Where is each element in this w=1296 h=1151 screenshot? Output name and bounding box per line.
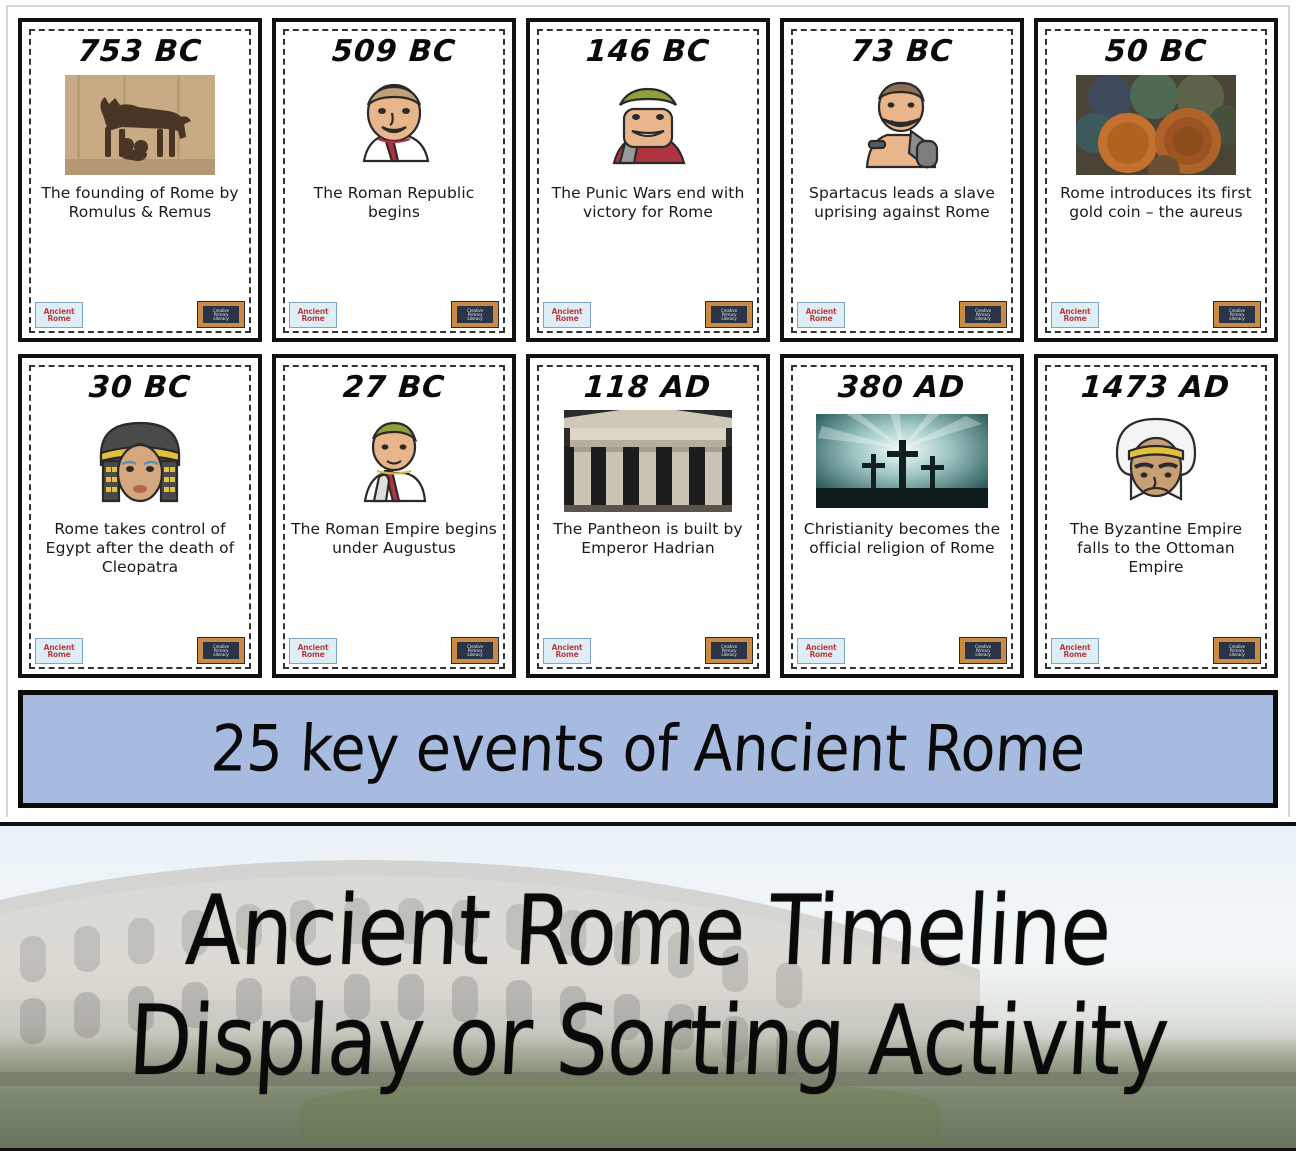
card-date: 380 AD: [837, 373, 966, 403]
card-date: 27 BC: [342, 373, 446, 403]
ancient-rome-badge: Ancient Rome: [543, 302, 591, 328]
page-frame-right: [1288, 5, 1290, 817]
card-inner-border: 380 AD: [791, 365, 1013, 669]
chalkboard-logo: Creative Primary Literacy: [705, 637, 753, 664]
chalkboard-logo: Creative Primary Literacy: [451, 301, 499, 328]
ancient-rome-badge: Ancient Rome: [289, 302, 337, 328]
timeline-card[interactable]: 27 BC: [272, 354, 516, 678]
logo-line-3: Literacy: [213, 653, 228, 657]
title-hero: Ancient Rome Timeline Display or Sorting…: [0, 822, 1296, 1151]
timeline-card-grid: 753 BC: [18, 18, 1278, 678]
card-footer: Ancient Rome Creative Primary Literacy: [797, 638, 1007, 664]
card-inner-border: 146 BC: [537, 29, 759, 333]
three-crosses-photo: [797, 407, 1007, 515]
chalkboard-logo: Creative Primary Literacy: [197, 637, 245, 664]
ancient-rome-badge: Ancient Rome: [797, 638, 845, 664]
badge-line-2: Rome: [47, 651, 70, 659]
card-footer: Ancient Rome Creative Primary Literacy: [797, 302, 1007, 328]
chalkboard-logo: Creative Primary Literacy: [451, 637, 499, 664]
card-date: 509 BC: [331, 37, 457, 67]
ancient-rome-badge: Ancient Rome: [35, 302, 83, 328]
card-footer: Ancient Rome Creative Primary Literacy: [289, 638, 499, 664]
card-footer: Ancient Rome Creative Primary Literacy: [289, 302, 499, 328]
page-frame-left: [6, 5, 8, 817]
card-inner-border: 753 BC: [29, 29, 251, 333]
roman-coins-photo: [1051, 71, 1261, 179]
badge-line-2: Rome: [301, 651, 324, 659]
timeline-card[interactable]: 30 BC: [18, 354, 262, 678]
roman-senator-illustration: [289, 71, 499, 179]
card-inner-border: 30 BC: [29, 365, 251, 669]
logo-line-3: Literacy: [975, 317, 990, 321]
card-inner-border: 73 BC: [791, 29, 1013, 333]
logo-line-3: Literacy: [1229, 653, 1244, 657]
card-date: 146 BC: [585, 37, 711, 67]
card-date: 118 AD: [583, 373, 712, 403]
ancient-rome-badge: Ancient Rome: [797, 302, 845, 328]
worksheet-page: 753 BC: [0, 0, 1296, 1151]
badge-line-2: Rome: [1063, 315, 1086, 323]
timeline-card[interactable]: 509 BC: [272, 18, 516, 342]
ancient-rome-badge: Ancient Rome: [543, 638, 591, 664]
card-inner-border: 118 AD: [537, 365, 759, 669]
chalkboard-logo: Creative Primary Literacy: [1213, 637, 1261, 664]
timeline-card[interactable]: 753 BC: [18, 18, 262, 342]
badge-line-2: Rome: [1063, 651, 1086, 659]
timeline-card[interactable]: 50 BC: [1034, 18, 1278, 342]
badge-line-2: Rome: [555, 315, 578, 323]
chalkboard-logo: Creative Primary Literacy: [1213, 301, 1261, 328]
logo-line-3: Literacy: [721, 653, 736, 657]
page-frame-top: [6, 5, 1290, 7]
laurel-emperor-illustration: [543, 71, 753, 179]
chalkboard-logo: Creative Primary Literacy: [705, 301, 753, 328]
badge-line-2: Rome: [809, 651, 832, 659]
hero-title-line-2: Display or Sorting Activity: [126, 994, 1170, 1091]
cleopatra-illustration: [35, 407, 245, 515]
ancient-rome-badge: Ancient Rome: [1051, 638, 1099, 664]
card-date: 50 BC: [1104, 37, 1208, 67]
banner-text: 25 key events of Ancient Rome: [209, 712, 1087, 786]
card-footer: Ancient Rome Creative Primary Literacy: [543, 302, 753, 328]
logo-line-3: Literacy: [467, 653, 482, 657]
ottoman-turban-illustration: [1051, 407, 1261, 515]
badge-line-2: Rome: [809, 315, 832, 323]
badge-line-2: Rome: [555, 651, 578, 659]
card-inner-border: 1473 AD: [1045, 365, 1267, 669]
timeline-card[interactable]: 380 AD: [780, 354, 1024, 678]
logo-line-3: Literacy: [721, 317, 736, 321]
ancient-rome-badge: Ancient Rome: [35, 638, 83, 664]
timeline-card[interactable]: 1473 AD: [1034, 354, 1278, 678]
timeline-card[interactable]: 73 BC: [780, 18, 1024, 342]
card-footer: Ancient Rome Creative Primary Literacy: [543, 638, 753, 664]
card-footer: Ancient Rome Creative Primary Literacy: [1051, 302, 1261, 328]
card-inner-border: 50 BC: [1045, 29, 1267, 333]
logo-line-3: Literacy: [975, 653, 990, 657]
logo-line-3: Literacy: [213, 317, 228, 321]
badge-line-2: Rome: [47, 315, 70, 323]
chalkboard-logo: Creative Primary Literacy: [959, 301, 1007, 328]
card-inner-border: 27 BC: [283, 365, 505, 669]
augustus-illustration: [289, 407, 499, 515]
ancient-rome-badge: Ancient Rome: [289, 638, 337, 664]
card-date: 30 BC: [88, 373, 192, 403]
timeline-card[interactable]: 118 AD: [526, 354, 770, 678]
chalkboard-logo: Creative Primary Literacy: [959, 637, 1007, 664]
capitoline-wolf-photo: [35, 71, 245, 179]
logo-line-3: Literacy: [1229, 317, 1244, 321]
gladiator-illustration: [797, 71, 1007, 179]
ancient-rome-badge: Ancient Rome: [1051, 302, 1099, 328]
hero-title-block: Ancient Rome Timeline Display or Sorting…: [0, 826, 1296, 1148]
timeline-card[interactable]: 146 BC: [526, 18, 770, 342]
logo-line-3: Literacy: [467, 317, 482, 321]
card-footer: Ancient Rome Creative Primary Literacy: [35, 302, 245, 328]
hero-title-line-1: Ancient Rome Timeline: [183, 884, 1112, 981]
card-date: 1473 AD: [1080, 373, 1231, 403]
badge-line-2: Rome: [301, 315, 324, 323]
key-events-banner: 25 key events of Ancient Rome: [18, 690, 1278, 808]
card-footer: Ancient Rome Creative Primary Literacy: [35, 638, 245, 664]
card-footer: Ancient Rome Creative Primary Literacy: [1051, 638, 1261, 664]
chalkboard-logo: Creative Primary Literacy: [197, 301, 245, 328]
card-date: 73 BC: [850, 37, 954, 67]
card-date: 753 BC: [77, 37, 203, 67]
card-inner-border: 509 BC: [283, 29, 505, 333]
pantheon-photo: [543, 407, 753, 515]
